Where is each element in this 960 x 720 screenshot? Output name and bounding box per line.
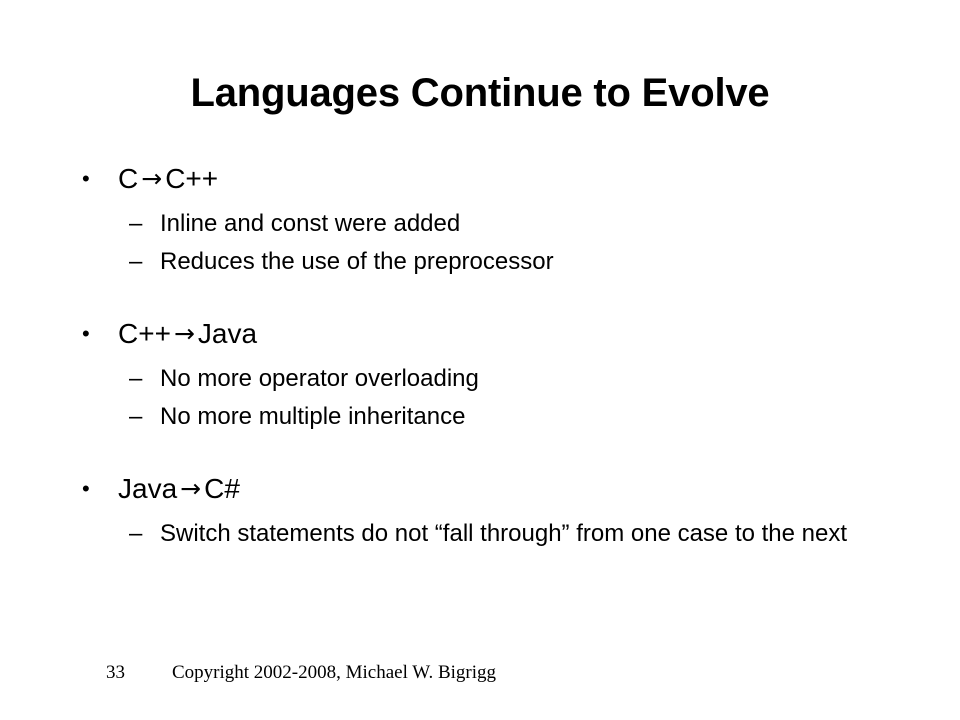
sub-bullet-list: –Switch statements do not “fall through”… xyxy=(0,515,960,553)
dash-bullet-icon: – xyxy=(129,205,142,243)
bullet-item-level1: •C→C++ xyxy=(0,160,960,199)
bullet-item-level2: –Switch statements do not “fall through”… xyxy=(0,515,960,553)
bullet-item-level1: •Java→C# xyxy=(0,470,960,509)
dash-bullet-icon: – xyxy=(129,515,142,553)
sub-bullet-list: –No more operator overloading –No more m… xyxy=(0,360,960,436)
bullet-group: •C→C++ –Inline and const were added –Red… xyxy=(0,160,960,281)
bullet-item-level2: –No more operator overloading xyxy=(0,360,960,398)
bullet-level1-text-before: Java xyxy=(118,473,177,504)
copyright-notice: Copyright 2002-2008, Michael W. Bigrigg xyxy=(172,660,496,686)
right-arrow-icon: → xyxy=(171,319,198,348)
bullet-item-level2: –No more multiple inheritance xyxy=(0,398,960,436)
right-arrow-icon: → xyxy=(138,164,165,193)
bullet-level1-text-after: C# xyxy=(204,473,240,504)
bullet-level2-text: Reduces the use of the preprocessor xyxy=(160,248,554,275)
dash-bullet-icon: – xyxy=(129,398,142,436)
bullet-group: •C++→Java –No more operator overloading … xyxy=(0,315,960,436)
bullet-list: •C→C++ –Inline and const were added –Red… xyxy=(0,160,960,553)
bullet-dot-icon: • xyxy=(82,315,96,353)
sub-bullet-list: –Inline and const were added –Reduces th… xyxy=(0,205,960,281)
bullet-dot-icon: • xyxy=(82,160,96,198)
slide-footer: 33 Copyright 2002-2008, Michael W. Bigri… xyxy=(0,660,960,686)
bullet-level1-text-after: C++ xyxy=(165,163,218,194)
slide-number: 33 xyxy=(106,660,125,686)
bullet-level2-text: No more operator overloading xyxy=(160,365,479,392)
bullet-level2-text: No more multiple inheritance xyxy=(160,403,465,430)
bullet-item-level2: –Inline and const were added xyxy=(0,205,960,243)
dash-bullet-icon: – xyxy=(129,360,142,398)
bullet-group: •Java→C# –Switch statements do not “fall… xyxy=(0,470,960,553)
bullet-item-level2: –Reduces the use of the preprocessor xyxy=(0,243,960,281)
bullet-item-level1: •C++→Java xyxy=(0,315,960,354)
page-title: Languages Continue to Evolve xyxy=(0,70,960,116)
slide-canvas: Languages Continue to Evolve •C→C++ –Inl… xyxy=(0,0,960,720)
bullet-level1-text-before: C++ xyxy=(118,318,171,349)
dash-bullet-icon: – xyxy=(129,243,142,281)
bullet-level1-text-after: Java xyxy=(198,318,257,349)
bullet-level1-text-before: C xyxy=(118,163,138,194)
right-arrow-icon: → xyxy=(177,474,204,503)
bullet-dot-icon: • xyxy=(82,470,96,508)
bullet-level2-text: Inline and const were added xyxy=(160,210,460,237)
bullet-level2-text: Switch statements do not “fall through” … xyxy=(160,520,847,547)
